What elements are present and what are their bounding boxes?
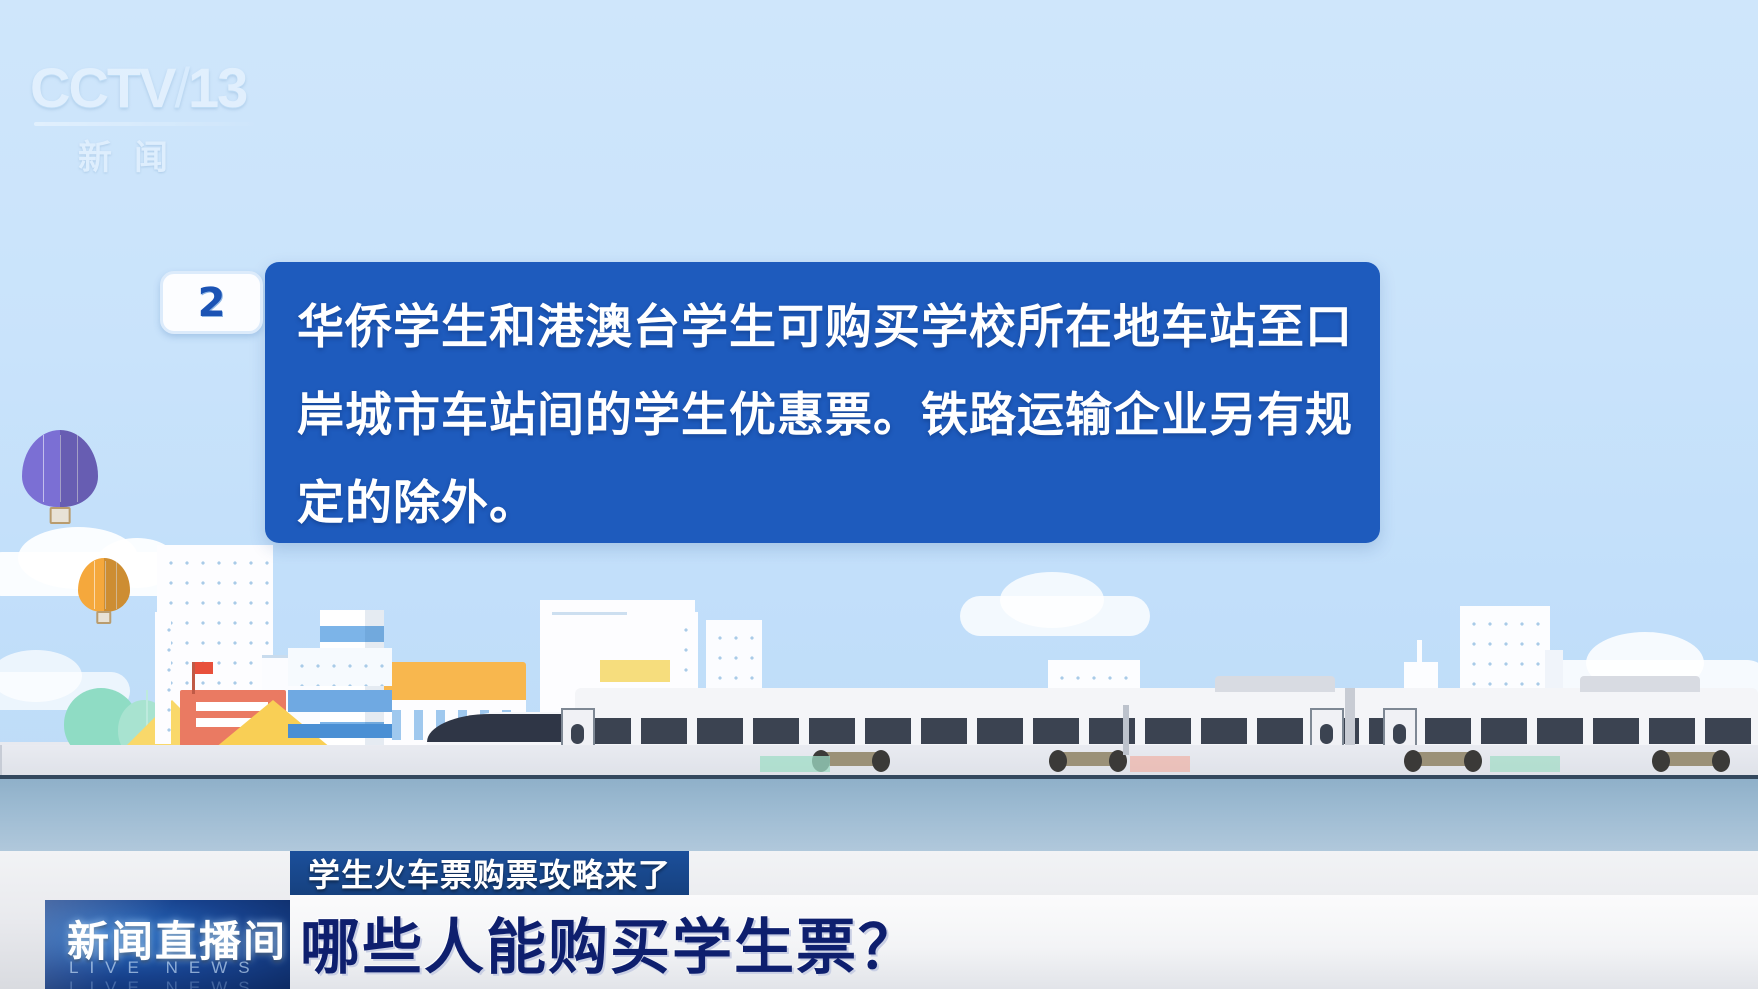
channel-logo-text: CCTV/13 — [30, 60, 280, 116]
building-dotted-left-fore2 — [288, 648, 392, 686]
train-door-1-win — [571, 724, 584, 744]
lower-third-headline: 哪些人能购买学生票？ — [300, 899, 920, 986]
train-wheel-4b — [1712, 750, 1730, 772]
channel-logo: CCTV/13 新闻 — [30, 60, 280, 175]
building-blue-bar-left — [288, 690, 392, 712]
lower-third-band-upper — [0, 775, 1758, 855]
channel-logo-number: 13 — [188, 56, 246, 119]
platform-shrub-1 — [760, 756, 830, 772]
callout-text: 华侨学生和港澳台学生可购买学校所在地车站至口岸城市车站间的学生优惠票。铁路运输企… — [297, 284, 1357, 548]
broadcast-screen: 华侨学生和港澳台学生可购买学校所在地车站至口岸城市车站间的学生优惠票。铁路运输企… — [0, 0, 1758, 989]
platform-shrub-3 — [1490, 756, 1560, 772]
channel-logo-underline — [34, 122, 254, 126]
callout-number-badge: 2 — [160, 271, 263, 334]
building-dotted-left-fore — [155, 612, 171, 744]
hot-air-balloon-orange — [78, 558, 130, 624]
callout-number: 2 — [198, 280, 226, 326]
program-logo-subtitle: LIVE NEWS — [69, 958, 261, 978]
train-door-3-win — [1393, 724, 1406, 744]
program-logo-subtitle-reflection: LIVE NEWS — [69, 978, 261, 989]
train-wheel-3b — [1464, 750, 1482, 772]
program-logo: 新闻直播间 LIVE NEWS LIVE NEWS — [45, 900, 290, 989]
lower-third-subtitle-bar: 学生火车票购票攻略来了 — [290, 851, 689, 895]
train-wheel-2a — [1049, 750, 1067, 772]
hot-air-balloon-purple — [22, 430, 98, 524]
train-wheel-1b — [872, 750, 890, 772]
flag-red-left — [195, 662, 213, 674]
building-antenna-right — [1417, 640, 1422, 664]
lower-third-headline-wrap: 哪些人能购买学生票？ — [300, 897, 920, 987]
train-roof-unit-1 — [1215, 676, 1335, 692]
channel-logo-sub: 新闻 — [78, 130, 190, 179]
lower-third-subtitle: 学生火车票购票攻略来了 — [308, 850, 671, 896]
train-roof-unit-2 — [1580, 676, 1700, 692]
building-blue-bar-left-2 — [288, 724, 392, 738]
platform-shrub-2 — [1130, 756, 1190, 772]
train-windows — [585, 718, 1758, 744]
train-wheel-3a — [1404, 750, 1422, 772]
channel-logo-slash: / — [174, 56, 188, 119]
channel-logo-cctv: CCTV — [30, 56, 174, 119]
train-door-2-win — [1320, 724, 1333, 744]
cloud-mid-puff — [1000, 572, 1104, 628]
train-nose-dark — [427, 714, 577, 742]
train-wheel-4a — [1652, 750, 1670, 772]
catenary-pole-1 — [1123, 705, 1129, 755]
callout-panel: 华侨学生和港澳台学生可购买学校所在地车站至口岸城市车站间的学生优惠票。铁路运输企… — [265, 262, 1380, 543]
